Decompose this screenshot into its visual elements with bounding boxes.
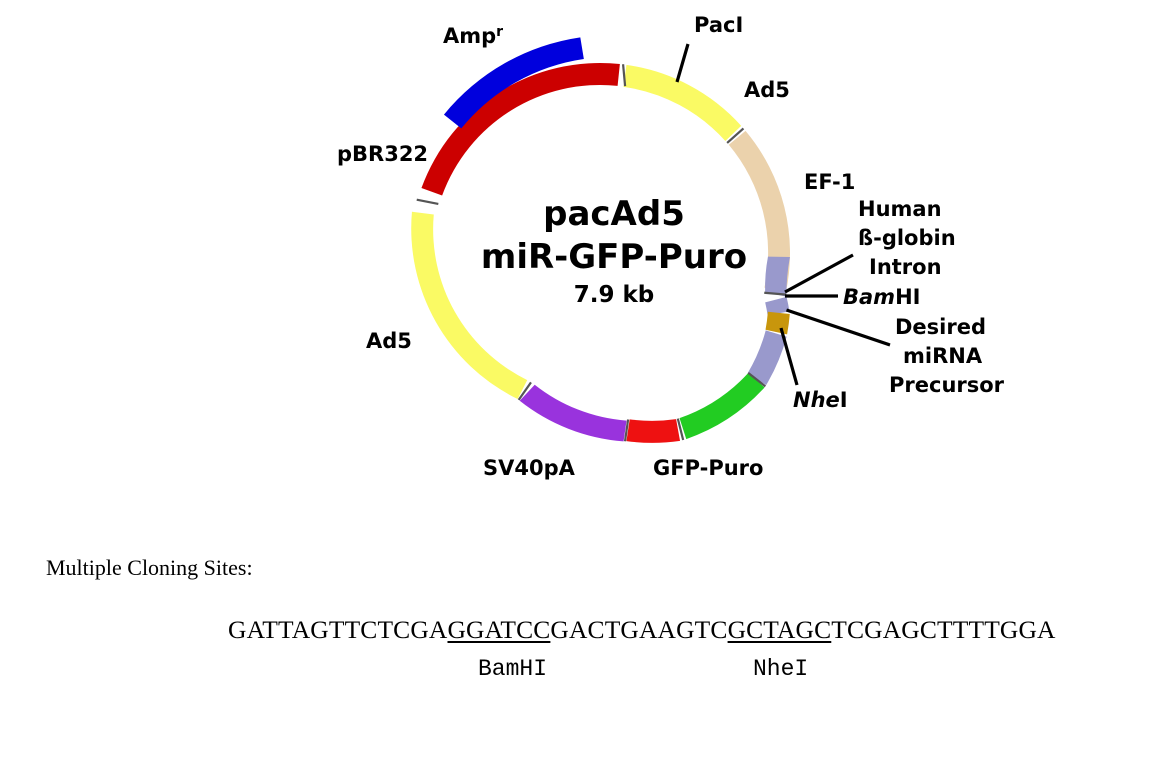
label-paci: PacI [694,13,743,37]
seq-part-2: GACTGAAGTC [550,615,727,644]
plasmid-name-line1: pacAd5 [543,194,685,234]
segment-pbr322 [421,63,619,196]
label-amp: Ampr [443,24,503,48]
label-ad5-right: Ad5 [744,78,790,102]
mcs-enzyme-labels: BamHI NheI [228,656,1128,760]
plasmid-size: 7.9 kb [574,282,655,308]
plasmid-map: pacAd5 miR-GFP-Puro 7.9 kb Ampr pBR322 A… [0,0,1161,520]
segment-gfp-puro [680,373,765,440]
label-desired-line2: miRNA [903,344,983,368]
plasmid-map-svg: pacAd5 miR-GFP-Puro 7.9 kb Ampr pBR322 A… [0,0,1161,520]
mcs-sequence: GATTAGTTCTCGAGGATCCGACTGAAGTCGCTAGCTCGAG… [228,615,1056,645]
label-desired-line3: Precursor [889,373,1005,397]
seq-part-0: GATTAGTTCTCGA [228,615,447,644]
segment-red [626,419,680,443]
enzyme-label-nhei: NheI [753,656,808,682]
leader-nhei [781,328,797,385]
label-intron-line2: ß-globin [858,226,956,250]
label-bamhi: BamHI [843,285,920,309]
mcs-heading: Multiple Cloning Sites: [46,555,253,581]
label-intron-line1: Human [858,197,942,221]
plasmid-name-line2: miR-GFP-Puro [481,237,747,277]
label-ad5-left: Ad5 [366,329,412,353]
label-desired-line1: Desired [895,315,986,339]
segment-ad5-right-arc [624,65,742,141]
seq-part-bamhi-site: GGATCC [447,615,550,644]
label-nhei: NheI [793,388,848,412]
label-gfp-puro: GFP-Puro [653,456,763,480]
seq-part-4: TCGAGCTTTTGGA [831,615,1055,644]
multiple-cloning-sites-section: Multiple Cloning Sites: GATTAGTTCTCGAGGA… [0,520,1161,712]
leader-paci [677,44,688,82]
segment-sv40pa [520,385,627,442]
seq-part-nhei-site: GCTAGC [728,615,832,644]
label-sv40pa: SV40pA [483,456,576,480]
leader-desired-mirna [787,310,891,345]
label-intron-line3: Intron [869,255,942,279]
label-pbr322: pBR322 [337,142,428,166]
segment-mcs-bamhi [766,312,790,335]
enzyme-label-bamhi: BamHI [478,656,547,682]
label-ef1: EF-1 [804,170,855,194]
